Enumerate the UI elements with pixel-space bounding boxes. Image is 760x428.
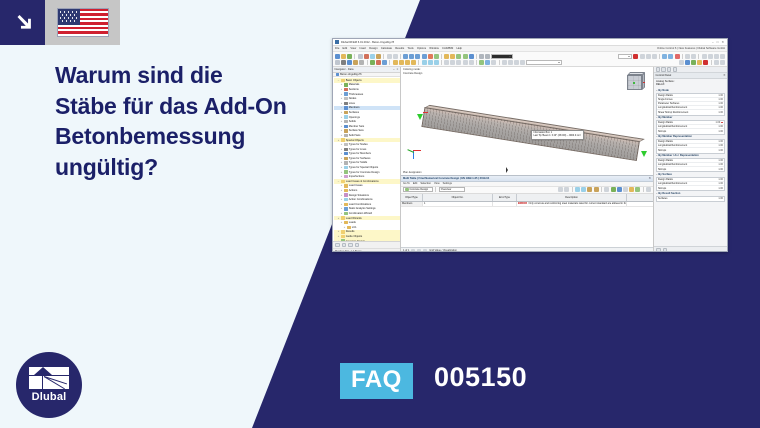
group-expander-icon[interactable]: – [656,89,657,92]
tree-expander-icon[interactable]: + [340,189,343,192]
tree-item-label: Load Cases & Combinations [346,180,379,183]
table-menu-edit[interactable]: Edit [413,182,417,185]
control-panel-group-title[interactable]: –By Node [656,89,725,92]
toolbar-loadcase-icon[interactable] [444,54,449,59]
pin-icon[interactable]: ⌐ [393,68,395,71]
menu-results[interactable]: Results [395,47,404,50]
control-panel-group-title[interactable]: –By Member / As / Representation [656,154,725,157]
control-panel-group-title[interactable]: –By Member [656,116,725,119]
toolbar-rotate-icon[interactable] [456,60,461,65]
toolbar-model-icon[interactable] [662,54,667,59]
tree-node-icon [344,170,347,173]
tree-expander-icon[interactable]: – [337,180,340,183]
table-columns-icon[interactable] [604,187,609,192]
control-panel-row-value: 1.00 [717,149,723,152]
results-grid[interactable]: ObjectTypeObject No.ErrorTypeDescription… [401,194,653,248]
tree-node-icon [344,203,347,206]
toolbar-extra1-icon[interactable] [679,60,684,65]
toolbar-results-icon[interactable] [463,54,468,59]
table-prev-icon[interactable] [558,187,563,192]
toolbar-surface-icon[interactable] [353,60,358,65]
toolbar-shape3-icon[interactable] [514,60,519,65]
group-title-label: By Surface [658,173,672,176]
toolbar-extra7-icon[interactable] [720,60,725,65]
toolbar-visibility-icon[interactable] [691,54,696,59]
tree-node-icon [344,92,347,95]
control-panel-row[interactable]: Shear Stirrup Reinforcement1.00 [657,110,724,114]
tree-node-icon [341,180,344,183]
grid-prev-page-icon[interactable] [417,249,421,253]
tree-expander-icon[interactable]: + [340,171,343,174]
control-panel-row-label: Parameter Surfaces [658,102,717,105]
tooltip-line: Last Tip 'Beam 1: fi 20° (45.000) -- 900… [534,135,582,138]
tree-expander-icon[interactable]: + [340,143,343,146]
control-panel-row-label: Single Forces [658,98,717,101]
grid-column-header[interactable]: Object No. [423,194,493,201]
navigator-tree[interactable]: –Basic Objects+Materials+Sections+Thickn… [333,77,400,241]
table-menu-goto[interactable]: Go To [403,182,410,185]
control-panel-row-label: Design Ratios [658,178,717,181]
tree-node-icon [344,198,347,201]
toolbar-deform-icon[interactable] [675,54,680,59]
toolbar-shape4-icon[interactable] [520,60,525,65]
control-panel-row-label: Longitudinal Reinforcement [658,144,717,147]
control-panel-row-value: 1.00 [717,163,723,166]
viewport-coloring-label: Coloring mode: Concrete Design [403,68,422,76]
tree-expander-icon[interactable]: + [340,120,343,123]
tree-item-label: Openings [349,116,360,119]
toolbar-scale-combo[interactable] [618,54,632,59]
tree-expander-icon[interactable]: + [340,161,343,164]
control-panel-row-value: 1.00 [717,102,723,105]
control-panel-group-box: Design Ratios1.00Longitudinal Reinforcem… [656,120,725,135]
group-expander-icon[interactable]: – [656,154,657,157]
grid-column-header[interactable]: ObjectType [401,194,423,201]
toolbar-thickness-icon[interactable] [382,60,387,65]
tree-expander-icon[interactable]: + [340,152,343,155]
menu-insert[interactable]: Insert [359,47,366,50]
grid-cell[interactable]: ERROROnly concrete and reinforcing steel… [517,202,627,206]
tree-node-icon [344,129,347,132]
tree-node-icon [344,143,347,146]
control-panel-row-label: Surfaces [658,197,717,200]
menubar-account-info[interactable]: Online Control 6 | New Features | Dlubal… [657,47,725,50]
toolbar-preview-icon[interactable] [364,54,369,59]
arrow-down-right-icon [12,12,34,34]
table-addon-combo[interactable]: Concrete Design [403,187,433,192]
close-button[interactable]: ✕ [721,40,724,44]
control-panel-group-title[interactable]: –By Surface [656,173,725,176]
tree-node-icon [344,221,347,224]
control-panel-group-box: Design Ratios1.00Longitudinal Reinforcem… [656,158,725,173]
control-panel-settings-icon[interactable] [656,248,661,252]
navigator-refresh-icon[interactable] [355,243,360,248]
tree-node-icon [344,97,347,100]
table-next-icon[interactable] [564,187,569,192]
toolbar-copy-icon[interactable] [393,54,398,59]
toolbar-cut-icon[interactable] [387,54,392,59]
table-menu-settings[interactable]: Settings [443,182,452,185]
tree-expander-icon[interactable]: + [340,203,343,206]
tree-expander-icon[interactable]: + [340,102,343,105]
toolbar-view-yz-icon[interactable] [422,54,427,59]
tree-expander-icon[interactable]: + [340,207,343,210]
navigator-expand-all-icon[interactable] [342,243,347,248]
toolbar-snap-icon[interactable] [646,54,651,59]
table-select-icon[interactable] [646,187,651,192]
table-panel-title-text: Multi Table | Final Numerical Concrete D… [403,177,489,180]
toolbar-settings-icon[interactable] [720,54,725,59]
toolbar-layer-icon[interactable] [685,54,690,59]
group-expander-icon[interactable]: – [656,135,657,138]
grid-cell[interactable]: 1 [423,202,493,206]
toolbar-alert-icon[interactable] [633,54,638,59]
tree-expander-icon[interactable]: + [340,194,343,197]
toolbar-surface-load-icon[interactable] [405,60,410,65]
toolbar-measure-icon[interactable] [479,54,484,59]
toolbar-shape1-icon[interactable] [502,60,507,65]
control-panel-row-label: Stirrups [658,168,717,171]
maximize-button[interactable]: □ [717,40,719,44]
tree-expander-icon[interactable]: + [337,139,340,142]
dlubal-logo-text: Dlubal [32,391,67,403]
toolbar-combination-icon[interactable] [450,54,455,59]
grid-cell-text: Only concrete and reinforcing steel mate… [529,202,627,205]
tree-item-label: Solids [349,120,356,123]
toolbar-hinge-icon[interactable] [428,60,433,65]
control-panel-title: Control Panel [656,74,672,77]
tree-expander-icon[interactable]: + [337,235,340,238]
table-filter-icon[interactable] [575,187,580,192]
tree-expander-icon[interactable]: + [340,148,343,151]
rfem-app-icon [335,40,339,44]
tree-expander-icon[interactable]: + [340,184,343,187]
nodal-support-left[interactable] [417,114,423,120]
view-cube-icon[interactable] [625,72,647,92]
control-panel-row-label: Design Ratios [658,140,717,143]
table-view-combo[interactable]: Overview [439,187,465,192]
toolbar-design-icon[interactable] [469,54,474,59]
control-panel-group-box: Surfaces1.00 [656,196,725,202]
control-panel-group: –By SurfaceDesign Ratios1.00Longitudinal… [656,173,725,191]
toolbar-mesh2-icon[interactable] [485,60,490,65]
tree-expander-icon[interactable]: – [337,79,340,82]
control-panel-row-value: 1.00 [717,98,723,101]
control-panel-close-icon[interactable]: ✕ [723,73,725,77]
toolbar-extra3-icon[interactable] [691,60,696,65]
table-settings-icon[interactable] [623,187,628,192]
tree-item-label: Loads [349,221,356,224]
tree-expander-icon[interactable]: + [340,129,343,132]
group-expander-icon[interactable]: – [656,192,657,195]
control-panel-tab-filter-icon[interactable] [667,67,672,72]
toolbar-release-icon[interactable] [434,60,439,65]
toolbar-redo-icon[interactable] [376,54,381,59]
tree-expander-icon[interactable]: + [340,97,343,100]
tree-node-icon [344,111,347,114]
toolbar-extra2-icon[interactable] [685,60,690,65]
toolbar-nodal-load-icon[interactable] [393,60,398,65]
control-panel-row-label: Design Ratios [658,159,717,162]
tree-item-label: Types for Surfaces [349,157,371,160]
tree-item-label: Sections [349,88,359,91]
toolbar-select-icon[interactable] [444,60,449,65]
menu-design[interactable]: Design [369,47,377,50]
toolbar-color-combo[interactable] [491,54,513,59]
toolbar-scale-icon[interactable] [469,60,474,65]
tree-node-icon [347,226,350,229]
control-panel-group-title[interactable]: –By Member Representation [656,135,725,138]
grid-pager: 1 of 1 [403,249,409,252]
toolbar-dimension-icon[interactable] [485,54,490,59]
menu-view[interactable]: View [350,47,356,50]
tree-expander-icon[interactable]: – [340,106,343,109]
control-panel-row-label: Design Ratios [658,121,715,124]
tree-node-icon [344,134,347,137]
toolbar-open-icon[interactable] [341,54,346,59]
tree-item-label: Combination Wizard [349,212,372,215]
toolbar-support-icon[interactable] [422,60,427,65]
grid-cell[interactable] [493,202,517,206]
control-panel-group: –By Member / As / RepresentationDesign R… [656,154,725,172]
control-panel-group: –By Result SectionSurfaces1.00 [656,192,725,202]
tree-item-label: Materials [349,83,360,86]
menu-help[interactable]: Help [456,47,462,50]
grid-column-header[interactable]: Description [517,194,627,201]
control-panel-row[interactable]: Stirrups1.00 [657,129,724,133]
toolbar-print-icon[interactable] [358,54,363,59]
table-sort-icon[interactable] [581,187,586,192]
navigator-footer-buttons[interactable] [333,241,400,248]
navigator-root[interactable]: Beton-Unguiltig.rf6 [335,73,362,76]
control-panel-row[interactable]: Surfaces1.00 [657,197,724,201]
tree-expander-icon[interactable]: + [337,230,340,233]
close-icon[interactable]: ✕ [396,68,398,71]
control-panel-row-value: 1.00 [717,111,723,114]
toolbar-mesh-icon[interactable] [668,54,673,59]
grid-column-header[interactable]: ErrorType [493,194,517,201]
tree-item-label: LC1 [352,226,357,229]
menu-options[interactable]: Options [417,47,426,50]
tree-item-label: Types for Lines [349,148,367,151]
table-row[interactable]: Members1ERROROnly concrete and reinforci… [401,202,653,207]
menu-window[interactable]: Window [429,47,439,50]
tree-expander-icon[interactable]: + [340,134,343,137]
toolbar-free-load-icon[interactable] [411,60,416,65]
navigator-panel[interactable]: Navigator - Data ⌐ ✕ Beton-Unguiltig.rf6… [333,67,401,252]
control-panel-groups[interactable]: –By NodeDesign Ratios1.00Single Forces1.… [654,88,727,203]
grid-first-page-icon[interactable] [411,249,415,253]
toolbar-member-load-icon[interactable] [399,60,404,65]
toolbar-extra5-icon[interactable] [703,60,708,65]
toolbar-ortho-icon[interactable] [652,54,657,59]
grid-footer-tab[interactable]: Grid Value / Visualization [429,249,457,252]
results-table-panel[interactable]: Multi Table | Final Numerical Concrete D… [401,175,653,252]
control-panel-row-value: 1.00 [717,140,723,143]
tree-item-label: Special Objects [346,139,364,142]
toolbar-material-icon[interactable] [370,60,375,65]
tree-node-icon [344,88,347,91]
control-panel-group-title[interactable]: –By Result Section [656,192,725,195]
control-panel-row-value: 1.00 [717,106,723,109]
toolbar-export-icon[interactable] [714,54,719,59]
faq-number: 005150 [434,362,527,393]
toolbar-info-icon[interactable] [491,60,496,65]
toolbar-section-icon[interactable] [376,60,381,65]
coordinate-axes-icon [407,147,423,161]
toolbar-row-2[interactable] [335,59,725,65]
tree-expander-icon[interactable]: + [340,221,343,224]
tree-item-label: Static Analysis Settings [349,207,376,210]
tree-node-icon [344,148,347,151]
tree-item-label: Types for Special Objects [349,166,378,169]
error-badge: ERROR [518,202,527,205]
tree-expander-icon[interactable]: + [340,88,343,91]
tree-expander-icon[interactable]: + [340,175,343,178]
grid-footer[interactable]: 1 of 1 Grid Value / Visualization [401,247,653,252]
toolbar-new-icon[interactable] [335,54,340,59]
menu-calculate[interactable]: Calculate [381,47,392,50]
tree-expander-icon[interactable]: + [340,116,343,119]
tree-item-label: Members [349,106,360,109]
table-detail-icon[interactable] [594,187,599,192]
tree-expander-icon[interactable]: + [340,111,343,114]
table-menu-selection[interactable]: Selection [420,182,431,185]
grid-body[interactable]: Members1ERROROnly concrete and reinforci… [401,202,653,207]
control-panel-reset-icon[interactable] [663,248,668,252]
tree-item-label: Load Wizards [346,217,362,220]
tree-node-icon [341,216,344,219]
table-view-combo-value: Overview [441,188,451,191]
tree-expander-icon[interactable]: + [340,212,343,215]
control-panel-group-box: Design Ratios1.00Single Forces1.00Parame… [656,93,725,116]
toolbar-move-icon[interactable] [450,60,455,65]
toolbar-zoom-all-icon[interactable] [434,54,439,59]
table-print-icon[interactable] [617,187,622,192]
arrow-down-right-badge[interactable] [0,0,45,45]
table-menu-view[interactable]: View [434,182,440,185]
control-panel-tab-colors-icon[interactable] [656,67,661,72]
tree-node-icon [341,79,344,82]
tree-expander-icon[interactable]: + [340,198,343,201]
toolbar-check-icon[interactable] [479,60,484,65]
tree-item-label: Load Cases [349,184,363,187]
toolbar-mirror-icon[interactable] [463,60,468,65]
tree-item-label: Types for Concrete Design [349,171,380,174]
faq-tag: FAQ [340,363,413,399]
toolbar-node-icon[interactable] [335,60,340,65]
control-panel-row[interactable]: Stirrups1.00 [657,186,724,190]
control-panel-row-value: 1.00 [717,144,723,147]
grid-next-page-icon[interactable] [423,249,427,253]
group-expander-icon[interactable]: – [656,173,657,176]
table-excel-icon[interactable] [611,187,616,192]
grid-cell[interactable]: Members [401,202,423,206]
tree-item-label: Design Situations [349,194,369,197]
toolbar-view-iso-icon[interactable] [403,54,408,59]
control-panel[interactable]: Control Panel ✕ Analog Surface: RELAX –B… [653,67,727,252]
tree-expander-icon[interactable]: + [340,125,343,128]
group-expander-icon[interactable]: – [656,116,657,119]
dlubal-logo[interactable]: Dlubal [16,352,82,418]
model-viewport[interactable]: Coloring mode: Concrete Design Informati… [401,67,653,175]
menu-tools[interactable]: Tools [407,47,413,50]
control-panel-row-label: Stirrups [658,130,717,133]
control-panel-footer[interactable] [654,246,727,252]
toolbar-view-xz-icon[interactable] [415,54,420,59]
toolbar-solid-icon[interactable] [359,60,364,65]
control-panel-tab-factors-icon[interactable] [661,67,666,72]
control-panel-row[interactable]: Stirrups1.00 [657,148,724,152]
control-panel-group: –By Member RepresentationDesign Ratios1.… [656,135,725,153]
menu-edit[interactable]: Edit [343,47,348,50]
toolbar-extra4-icon[interactable] [697,60,702,65]
slide-headline: Warum sind die Stäbe für das Add-On Beto… [55,60,335,182]
toolbar-member-icon[interactable] [347,60,352,65]
information-box-tooltip: Information Box: 1 Last Tip 'Beam 1: fi … [531,130,584,140]
tree-expander-icon[interactable]: + [337,217,340,220]
toolbar-save-icon[interactable] [347,54,352,59]
menu-cadbim[interactable]: CAD/BIM [442,47,453,50]
control-panel-row-label: Longitudinal Reinforcement [658,182,717,185]
navigator-filter-icon[interactable] [348,243,353,248]
tree-node-icon [344,125,347,128]
toolbar-view-xy-icon[interactable] [409,54,414,59]
table-group-icon[interactable] [587,187,592,192]
table-edit-icon[interactable] [629,187,634,192]
control-panel-row-label: Shear Stirrup Reinforcement [658,111,717,114]
tree-expander-icon[interactable]: + [340,166,343,169]
app-toolbars[interactable] [333,52,727,67]
control-panel-group-box: Design Ratios1.00Longitudinal Reinforcem… [656,177,725,192]
tree-expander-icon[interactable]: + [340,93,343,96]
toolbar-calculate-icon[interactable] [456,54,461,59]
table-addon-combo-value: Concrete Design [410,188,429,191]
control-panel-row-value: 1.00 [717,125,723,128]
tree-expander-icon[interactable]: + [340,83,343,86]
toolbar-table-icon[interactable] [702,54,707,59]
table-panel-toolbar[interactable]: Concrete Design Overview [401,187,653,194]
group-title-label: By Member [658,116,672,119]
minimize-button[interactable]: – [712,40,714,44]
tree-item-label: Results [346,230,355,233]
toolbar-loadcase-combo[interactable] [526,60,562,65]
window-controls[interactable]: – □ ✕ [712,40,725,44]
us-flag-icon [57,8,109,37]
tree-node-icon [344,207,347,210]
group-title-label: By Member Representation [658,135,692,138]
language-flag-badge[interactable] [45,0,120,45]
toolbar-render-icon[interactable] [428,54,433,59]
menu-file[interactable]: File [335,47,339,50]
toolbar-shape2-icon[interactable] [508,60,513,65]
toolbar-extra6-icon[interactable] [714,60,719,65]
control-panel-row-value: 1.00 [717,130,723,133]
toolbar-line-icon[interactable] [341,60,346,65]
control-panel-row-value: 1.00 [715,121,721,124]
tree-expander-icon[interactable]: + [343,226,346,229]
toolbar-report-icon[interactable] [708,54,713,59]
toolbar-undo-icon[interactable] [370,54,375,59]
table-panel-close-icon[interactable]: ✕ [648,176,651,180]
nodal-support-right[interactable] [641,151,647,157]
table-apply-icon[interactable] [635,187,640,192]
tree-expander-icon[interactable]: + [340,157,343,160]
control-panel-tab-display-icon[interactable] [673,67,678,72]
control-panel-row[interactable]: Stirrups1.00 [657,167,724,171]
toolbar-grid-icon[interactable] [640,54,645,59]
navigator-collapse-all-icon[interactable] [335,243,340,248]
